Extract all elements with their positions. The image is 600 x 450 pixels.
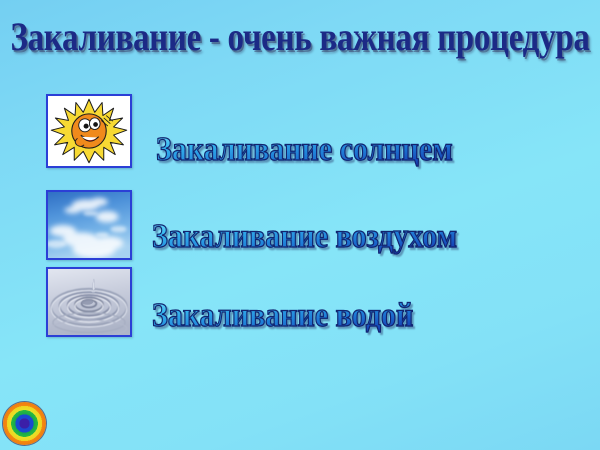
list-item[interactable]: Закаливание воздухом [152, 218, 457, 256]
page-title: Закаливание - очень важная процедура [10, 14, 589, 63]
sun-cartoon-image[interactable] [46, 94, 132, 168]
slide-title-container: Закаливание - очень важная процедура [0, 18, 600, 58]
sun-icon [48, 96, 130, 166]
rainbow-circle-button[interactable] [3, 402, 46, 445]
presentation-slide: Закаливание - очень важная процедура [0, 0, 600, 450]
sky-clouds-image[interactable] [46, 190, 132, 260]
water-ripple-image[interactable] [46, 267, 132, 337]
bullet-label-air: Закаливание воздухом [152, 218, 457, 255]
list-item[interactable]: Закаливание солнцем [156, 131, 453, 169]
water-droplet-photo [48, 269, 130, 335]
bullet-label-sun: Закаливание солнцем [156, 131, 453, 168]
bullet-label-water: Закаливание водой [152, 297, 413, 334]
clouds-photo [48, 192, 130, 258]
list-item[interactable]: Закаливание водой [152, 297, 413, 335]
